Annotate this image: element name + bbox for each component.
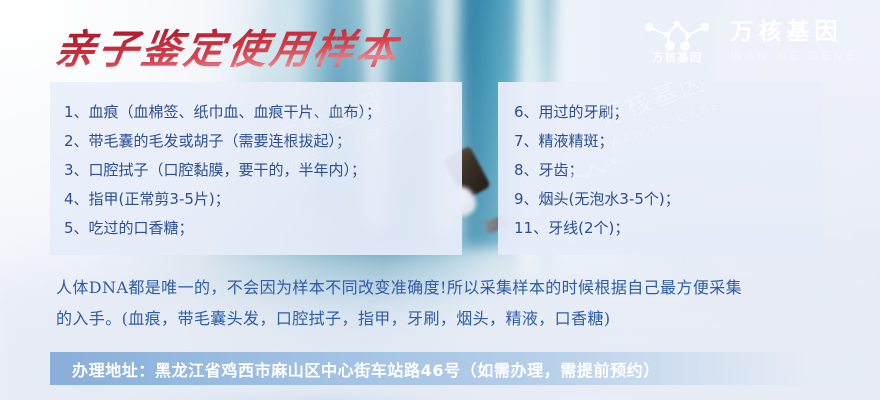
brand-logo: 万核基因 万核基因 WAN HE GENE [638, 18, 858, 64]
note-paragraph: 人体DNA都是唯一的，不会因为样本不同改变准确度!所以采集样本的时候根据自己最方… [56, 272, 846, 334]
brand-name-en: WAN HE GENE [730, 49, 858, 62]
page-title: 亲子鉴定使用样本 [51, 17, 404, 75]
sample-list-left: 1、血痕（血棉签、纸巾血、血痕干片、血布）； 2、带毛囊的毛发或胡子（需要连根拔… [50, 82, 462, 243]
brand-name-cn: 万核基因 [730, 20, 858, 43]
list-item: 11、牙线(2个)； [512, 214, 823, 243]
list-item: 1、血痕（血棉签、纸巾血、血痕干片、血布）； [64, 98, 462, 127]
sample-list-panel-right: 万核基因 WAN HE GENE [498, 82, 823, 255]
list-item: 8、牙齿； [512, 156, 823, 185]
list-item: 6、用过的牙刷； [512, 98, 823, 127]
brand-text: 万核基因 WAN HE GENE [730, 20, 858, 62]
dna-molecule-icon: 万核基因 [638, 18, 716, 64]
list-item: 5、吃过的口香糖； [64, 214, 462, 243]
list-item: 3、口腔拭子（口腔黏膜，要干的，半年内）； [64, 156, 462, 185]
address-bar: 办理地址：黑龙江省鸡西市麻山区中心街车站路46号（如需办理，需提前预约） [50, 352, 810, 385]
list-item: 2、带毛囊的毛发或胡子（需要连根拔起）； [64, 127, 462, 156]
sample-list-panel-left: 万核基因 WAN HE GENE 1、血痕（血棉签、纸巾血、血痕干片、血布）； … [50, 82, 462, 255]
list-item: 7、精液精斑； [512, 127, 823, 156]
note-line-1: 人体DNA都是唯一的，不会因为样本不同改变准确度!所以采集样本的时候根据自己最方… [56, 272, 846, 303]
list-item: 4、指甲(正常剪3-5片)； [64, 185, 462, 214]
list-item: 9、烟头(无泡水3-5个)； [512, 185, 823, 214]
brand-mark-caption: 万核基因 [652, 49, 702, 65]
note-line-2: 的入手。(血痕，带毛囊头发，口腔拭子，指甲，牙刷，烟头，精液，口香糖) [56, 303, 846, 334]
poster-root: 亲子鉴定使用样本 [0, 0, 880, 400]
address-text: 办理地址：黑龙江省鸡西市麻山区中心街车站路46号（如需办理，需提前预约） [50, 357, 660, 381]
sample-list-right: 6、用过的牙刷； 7、精液精斑； 8、牙齿； 9、烟头(无泡水3-5个)； 11… [498, 82, 823, 243]
